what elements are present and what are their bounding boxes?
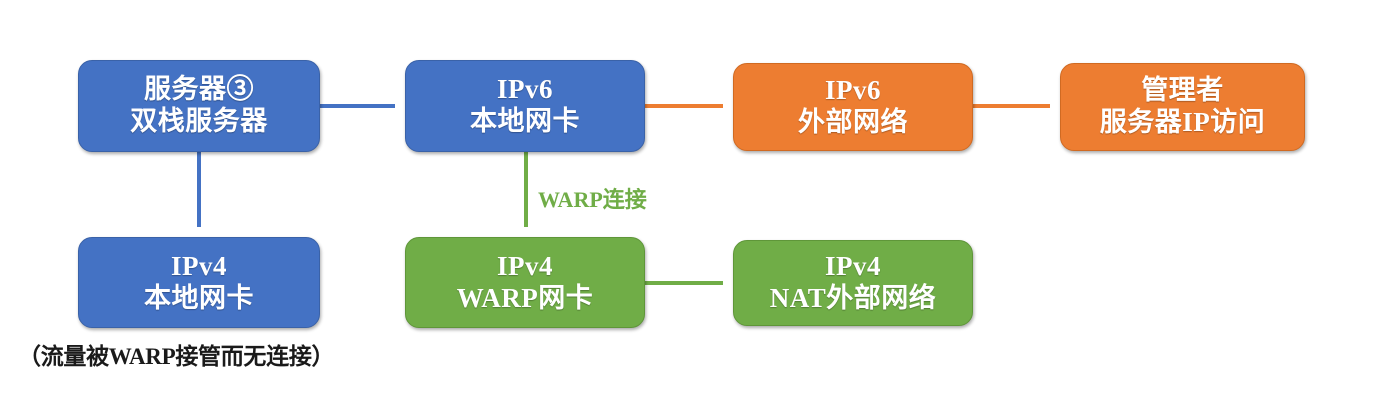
edge-shaft (197, 152, 201, 227)
node-server3[interactable]: 服务器③ 双栈服务器 (78, 60, 320, 152)
node-line-1: IPv6 (497, 74, 553, 106)
diagram-canvas: WARP连接 服务器③ 双栈服务器 IPv6 本地网卡 IPv6 外部网络 管理… (0, 0, 1390, 418)
node-line-1: 管理者 (1141, 75, 1224, 107)
node-admin-access[interactable]: 管理者 服务器IP访问 (1060, 63, 1305, 151)
node-ipv4-nat-external[interactable]: IPv4 NAT外部网络 (733, 240, 973, 326)
caption-ipv4-no-connection: （流量被WARP接管而无连接） (18, 337, 334, 371)
node-line-2: 本地网卡 (470, 106, 580, 138)
node-line-1: 服务器③ (144, 74, 254, 106)
node-line-1: IPv4 (171, 251, 227, 283)
node-line-1: IPv4 (497, 251, 553, 283)
edge-label-warp-connection: WARP连接 (538, 182, 647, 214)
node-line-2: 本地网卡 (144, 283, 254, 315)
edge-shaft (320, 104, 395, 108)
node-line-2: 服务器IP访问 (1100, 107, 1266, 139)
node-line-2: 双栈服务器 (130, 106, 268, 138)
node-ipv6-local-nic[interactable]: IPv6 本地网卡 (405, 60, 645, 152)
node-line-1: IPv4 (825, 251, 881, 283)
node-line-2: WARP网卡 (457, 283, 594, 315)
edge-shaft (973, 104, 1050, 108)
node-line-2: NAT外部网络 (770, 283, 937, 315)
node-ipv6-external[interactable]: IPv6 外部网络 (733, 63, 973, 151)
edge-shaft (645, 281, 723, 285)
node-line-1: IPv6 (825, 75, 881, 107)
node-ipv4-warp-nic[interactable]: IPv4 WARP网卡 (405, 237, 645, 328)
node-ipv4-local-nic[interactable]: IPv4 本地网卡 (78, 237, 320, 328)
edge-shaft (645, 104, 723, 108)
edge-shaft (524, 152, 528, 227)
node-line-2: 外部网络 (798, 107, 908, 139)
